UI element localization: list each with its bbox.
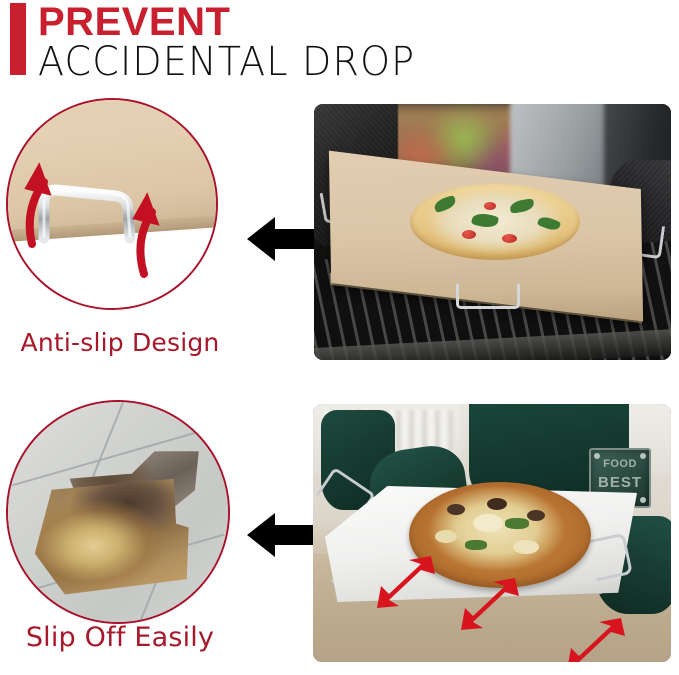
badge-text-bottom: BEST [591,474,649,491]
photo-grill [314,104,671,360]
cheese-patch [435,530,457,543]
stone-handle-front [456,284,520,309]
red-arrow-down-left-1-icon [375,554,437,610]
mushroom-topping [447,504,465,515]
basil-leaf [509,198,534,213]
basil-leaf [433,195,458,213]
headline-primary: PREVENT [38,1,230,43]
infographic-page: PREVENT ACCIDENTAL DROP [0,0,679,675]
callout-circle-anti-slip [6,98,218,310]
cheese-patch [513,540,539,554]
header: PREVENT ACCIDENTAL DROP [0,0,679,88]
left-arrow-icon-bottom [247,512,317,558]
green-pepper-topping [465,540,487,550]
photo-table: FOOD BEST [313,404,671,662]
tomato-slice [484,202,496,210]
headline-secondary: ACCIDENTAL DROP [38,38,415,85]
up-arrow-curved-left-icon [22,158,72,248]
mushroom-topping [527,510,545,521]
cheese-patch [473,514,503,532]
badge-rivet [640,497,646,503]
basil-leaf [471,211,499,229]
green-pepper-topping [505,518,529,529]
red-accent-bar-icon [10,3,26,75]
red-arrow-down-left-3-icon [565,616,627,662]
badge-text-top: FOOD [591,458,649,470]
mushroom-topping [487,498,507,510]
tomato-slice [462,230,476,239]
basil-leaf [537,214,562,232]
tomato-slice [502,234,517,243]
caption-slip-off: Slip Off Easily [0,622,240,653]
caption-anti-slip: Anti-slip Design [0,328,240,357]
left-arrow-icon-top [247,216,317,262]
dirty-pizza-stone [31,476,192,596]
up-arrow-curved-right-icon [128,188,178,278]
callout-circle-slip-off [6,400,230,624]
red-arrow-down-left-2-icon [459,576,521,632]
margherita-pizza [410,184,580,260]
